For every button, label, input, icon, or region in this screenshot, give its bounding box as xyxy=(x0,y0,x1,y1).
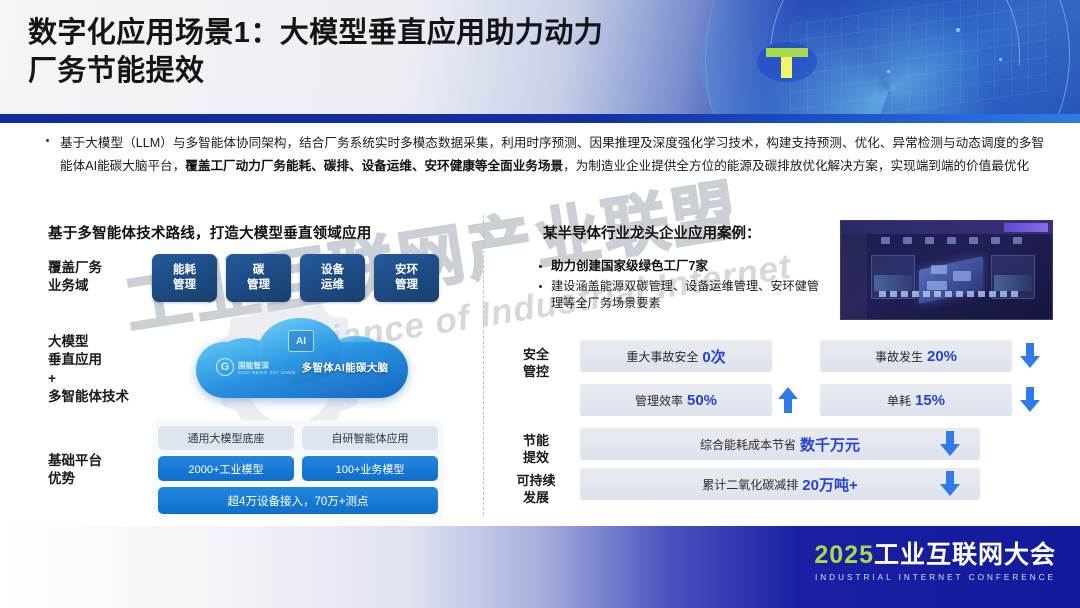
metric-value: 0次 xyxy=(702,346,725,367)
case-bullet-text: 建设涵盖能源双碳管理、设备运维管理、安环健管理等全厂务场景要素 xyxy=(551,279,819,310)
conference-logo: 2025工业互联网大会 INDUSTRIAL INTERNET CONFEREN… xyxy=(814,543,1056,582)
metric-value: 数千万元 xyxy=(800,434,860,455)
dashboard-nav-icon xyxy=(881,237,890,244)
base-box-business-models[interactable]: 100+业务模型 xyxy=(302,456,438,481)
list-item: 助力创建国家级绿色工厂7家 xyxy=(536,258,826,276)
dashboard-sidebar xyxy=(841,234,867,320)
glow-dot-icon xyxy=(887,70,890,73)
metric-value: 20万吨+ xyxy=(802,474,857,495)
dashboard-chart xyxy=(874,275,912,291)
domain-box-carbon[interactable]: 碳 管理 xyxy=(226,254,291,302)
dashboard-nav-icon xyxy=(903,237,912,244)
ai-carbon-brain-cloud-graphic: AI G 国能智深 GUO NENG ZHI SHEN 多智体AI能碳大脑 xyxy=(196,316,408,408)
base-platform-panel: 通用大模型底座 自研智能体应用 2000+工业模型 100+业务模型 超4万设备… xyxy=(152,420,444,518)
glow-dot-icon xyxy=(956,28,960,32)
metric-row-label-saving: 节能 提效 xyxy=(500,432,572,467)
case-bullet-text: 助力创建国家级绿色工厂7家 xyxy=(551,259,708,273)
metric-prefix: 事故发生 xyxy=(875,348,923,365)
intro-text-bold: 覆盖工厂动力厂务能耗、碳排、设备运维、安环健康等全面业务场景 xyxy=(185,159,563,173)
bullet-dot-icon xyxy=(539,285,542,288)
domain-box-equipment[interactable]: 设备 运维 xyxy=(300,254,365,302)
right-section-heading: 某半导体行业龙头企业应用案例： xyxy=(543,222,761,243)
conference-year: 2025 xyxy=(814,541,874,569)
t-logo-icon xyxy=(756,38,818,84)
dashboard-nav-icon xyxy=(969,237,978,244)
list-item: 建设涵盖能源双碳管理、设备运维管理、安环健管理等全厂务场景要素 xyxy=(536,278,826,313)
metric-value: 50% xyxy=(687,392,717,409)
intro-paragraph: 基于大模型（LLM）与多智能体协同架构，结合厂务系统实时多模态数据采集，利用时序… xyxy=(44,132,1044,177)
column-divider xyxy=(483,215,484,515)
bullet-dot-icon xyxy=(539,265,542,268)
base-blue-row: 2000+工业模型 100+业务模型 xyxy=(158,456,438,481)
metric-value: 15% xyxy=(915,392,945,409)
domain-box-safety[interactable]: 安环 管理 xyxy=(374,254,439,302)
domain-box-row: 能耗 管理 碳 管理 设备 运维 安环 管理 xyxy=(152,254,442,302)
base-box-device-access[interactable]: 超4万设备接入，70万+测点 xyxy=(158,487,438,514)
dashboard-nav-icon xyxy=(1013,237,1022,244)
metric-row-label-safety: 安全 管控 xyxy=(500,346,572,381)
metric-cell-accident-rate: 事故发生 20% xyxy=(820,340,1012,372)
model-block-icon xyxy=(927,281,947,290)
arrow-down-icon xyxy=(1020,343,1040,369)
metric-row-label-sustainable: 可持续 发展 xyxy=(500,472,572,507)
model-block-icon xyxy=(953,271,971,281)
base-box-industry-models[interactable]: 2000+工业模型 xyxy=(158,456,294,481)
energy-carbon-dashboard-screenshot[interactable] xyxy=(840,220,1053,320)
metric-cell-management-efficiency: 管理效率 50% xyxy=(580,384,772,416)
metric-prefix: 单耗 xyxy=(887,392,911,409)
dashboard-chart xyxy=(994,275,1032,291)
metric-prefix: 管理效率 xyxy=(635,392,683,409)
label-base-platform: 基础平台 优势 xyxy=(48,452,102,489)
metric-cell-co2-reduction: 累计二氧化碳减排 20万吨+ xyxy=(580,468,980,500)
conference-name-cn: 工业互联网大会 xyxy=(874,541,1056,569)
metric-cell-unit-consumption: 单耗 15% xyxy=(820,384,1012,416)
label-model-vertical: 大模型 垂直应用 + 多智能体技术 xyxy=(48,333,129,406)
case-bullet-list: 助力创建国家级绿色工厂7家 建设涵盖能源双碳管理、设备运维管理、安环健管理等全厂… xyxy=(536,258,826,314)
ai-chip-icon: AI xyxy=(288,330,314,352)
dashboard-nav-icon xyxy=(991,237,1000,244)
model-block-icon xyxy=(931,265,947,274)
dashboard-nav-icon xyxy=(925,237,934,244)
metric-cell-major-accident: 重大事故安全 0次 xyxy=(580,340,772,372)
arrow-down-icon xyxy=(940,471,960,497)
slide-root: 数字化应用场景1：大模型垂直应用助力动力 厂务节能提效 基于大模型（LLM）与多… xyxy=(0,0,1080,608)
metric-cell-energy-cost-saving: 综合能耗成本节省 数千万元 xyxy=(580,428,980,460)
left-section-heading: 基于多智能体技术路线，打造大模型垂直领域应用 xyxy=(48,222,371,243)
metric-prefix: 累计二氧化碳减排 xyxy=(702,476,798,493)
glow-dot-icon xyxy=(999,58,1002,61)
cloud-title: 多智体AI能碳大脑 xyxy=(196,360,408,375)
page-title: 数字化应用场景1：大模型垂直应用助力动力 厂务节能提效 xyxy=(28,14,718,91)
dashboard-badge xyxy=(1004,223,1048,232)
dashboard-nav-icon xyxy=(947,237,956,244)
bullet-dot-icon xyxy=(46,139,49,142)
arrow-up-icon xyxy=(778,387,798,413)
slide-header: 数字化应用场景1：大模型垂直应用助力动力 厂务节能提效 xyxy=(0,0,1080,114)
base-light-row: 通用大模型底座 自研智能体应用 xyxy=(158,426,438,450)
dashboard-caption xyxy=(879,291,1019,297)
metric-prefix: 重大事故安全 xyxy=(626,348,698,365)
base-box-general-model[interactable]: 通用大模型底座 xyxy=(158,426,294,450)
metric-prefix: 综合能耗成本节省 xyxy=(700,436,796,453)
conference-name-en: INDUSTRIAL INTERNET CONFERENCE xyxy=(814,573,1056,582)
domain-box-energy[interactable]: 能耗 管理 xyxy=(152,254,217,302)
base-box-self-agent[interactable]: 自研智能体应用 xyxy=(302,426,438,450)
arrow-down-icon xyxy=(940,431,960,457)
intro-text-part2: ，为制造业企业提供全方位的能源及碳排放优化解决方案，实现端到端的价值最优化 xyxy=(563,159,1029,173)
header-divider xyxy=(0,114,1080,123)
label-coverage-domain: 覆盖厂务 业务域 xyxy=(48,259,102,296)
metric-value: 20% xyxy=(927,348,957,365)
arrow-down-icon xyxy=(1020,387,1040,413)
